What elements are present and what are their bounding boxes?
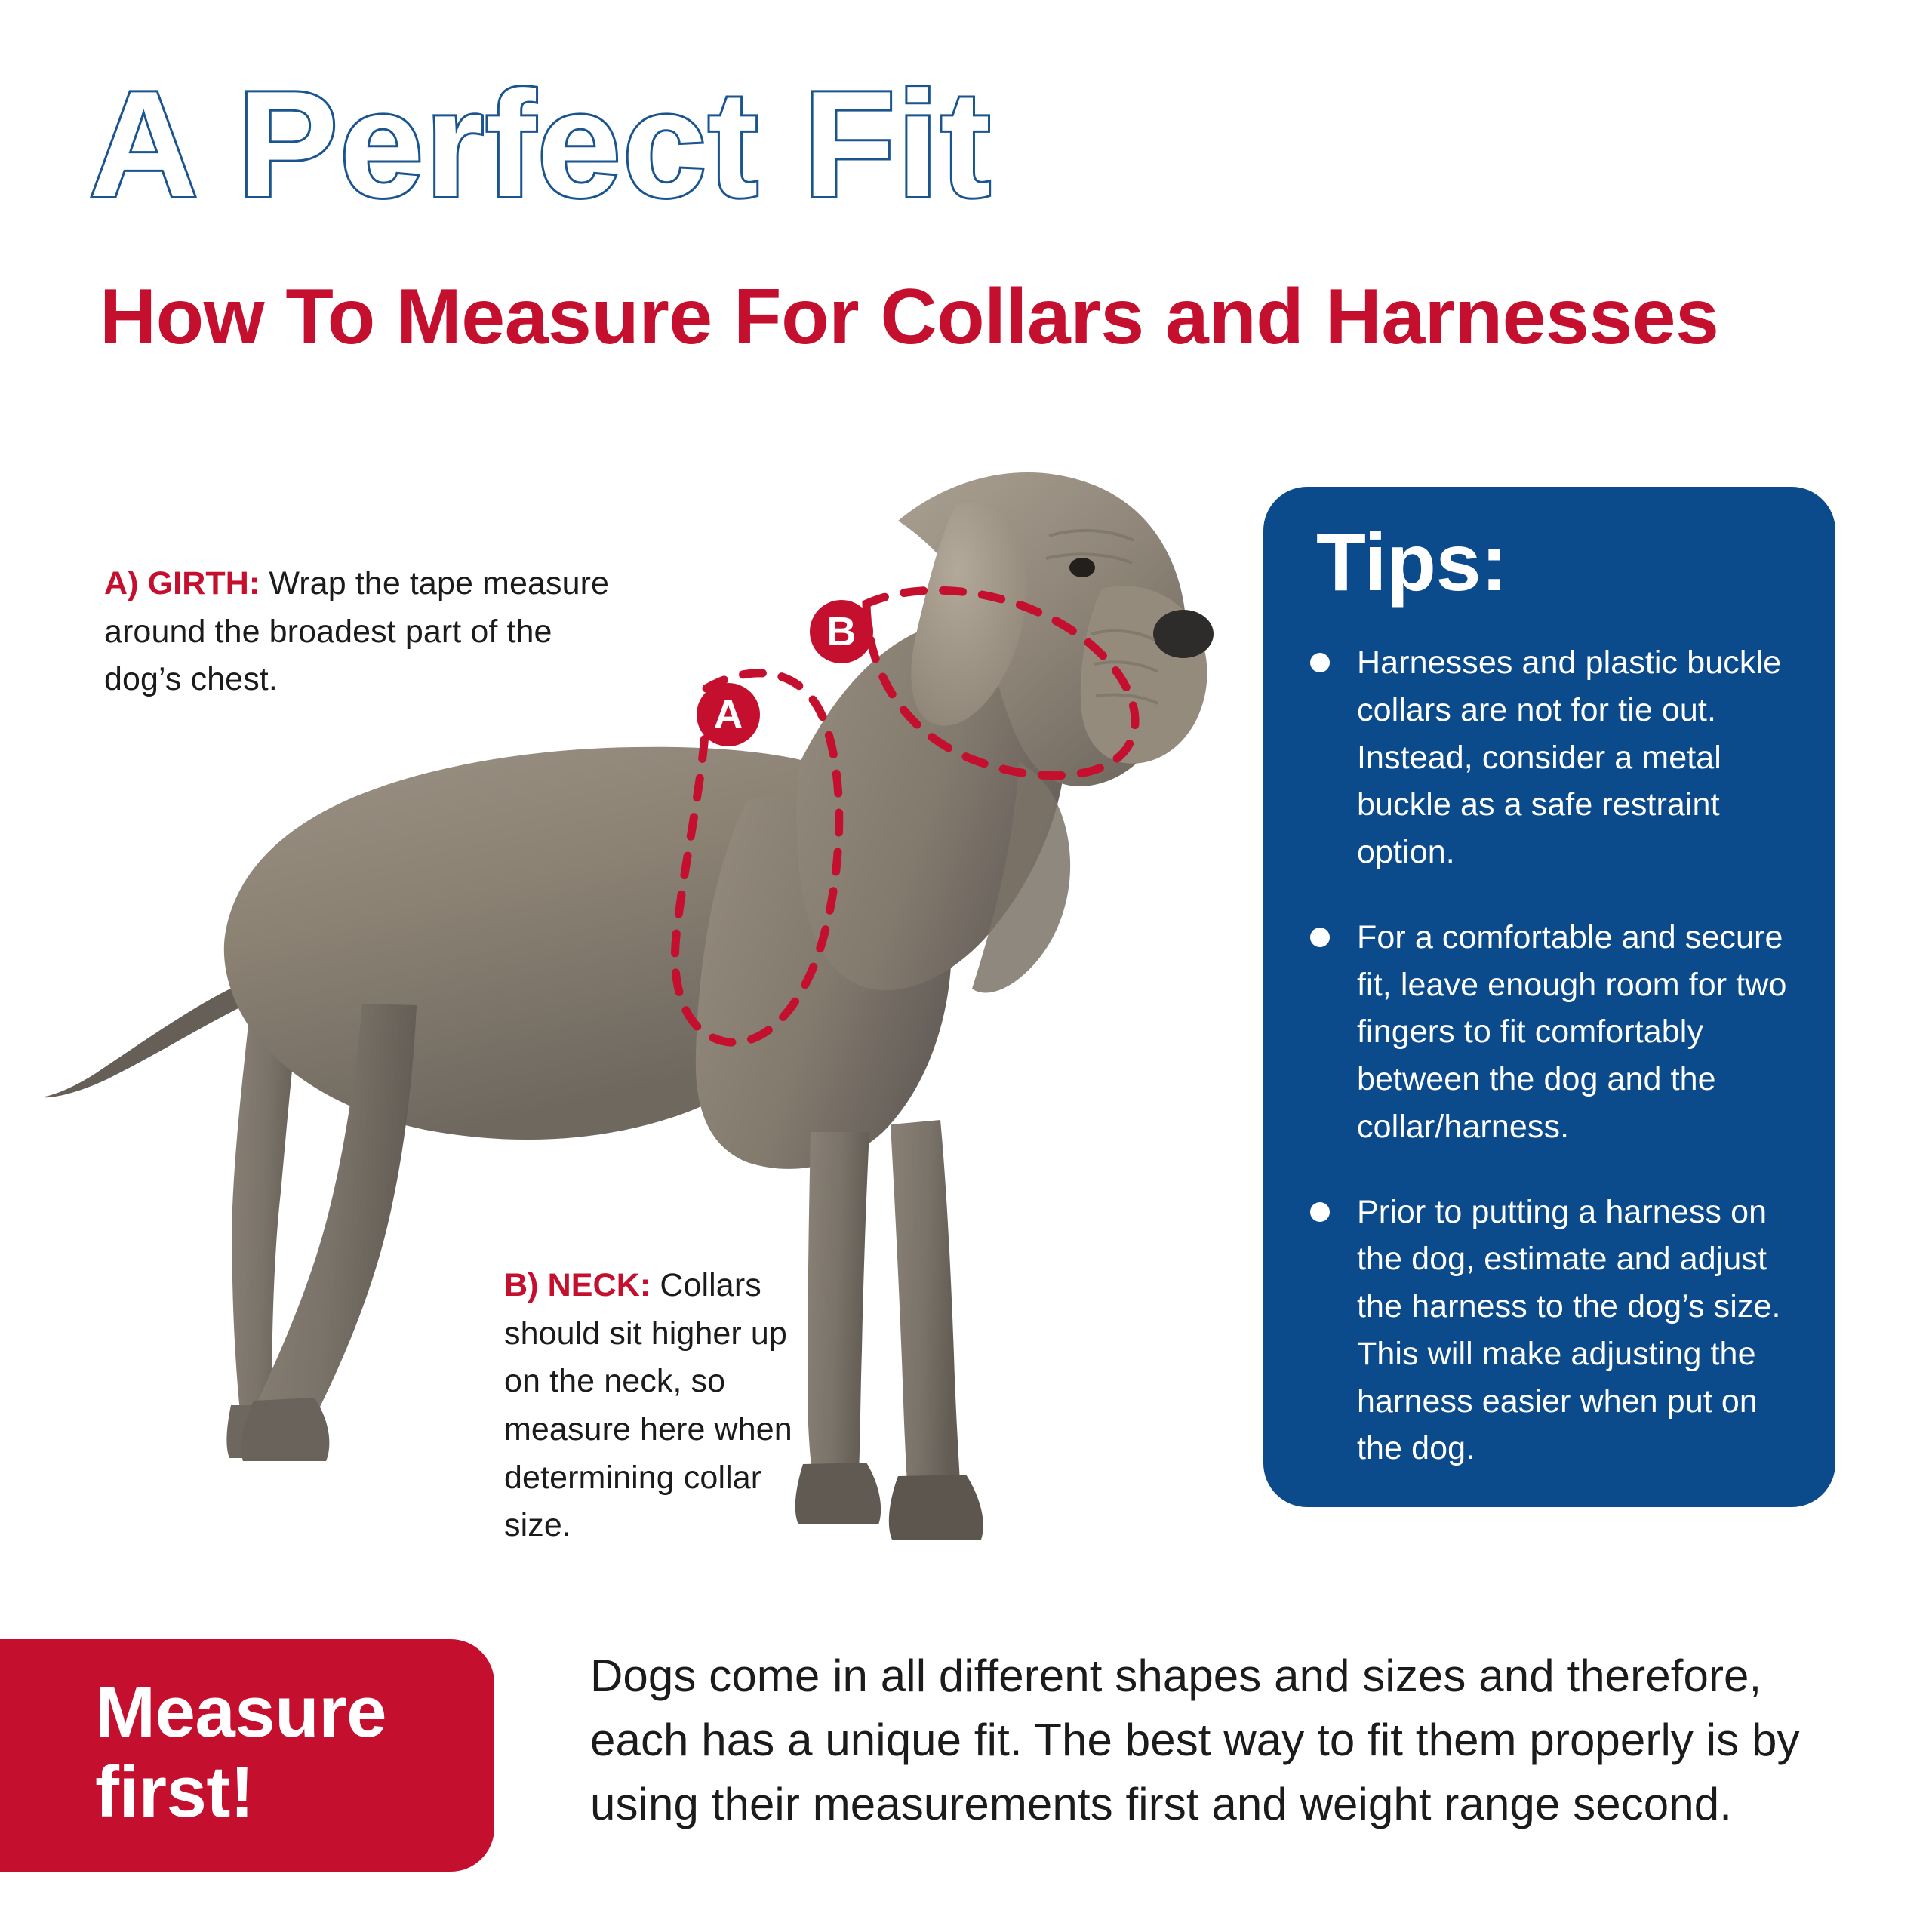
footer-paragraph: Dogs come in all different shapes and si… <box>590 1644 1843 1837</box>
bullet-icon <box>1310 653 1330 672</box>
callout-neck-lead: B) NECK: <box>504 1267 651 1303</box>
callout-girth-lead: A) GIRTH: <box>104 565 260 601</box>
dog-front-paw-near <box>889 1475 983 1540</box>
marker-neck-b: B <box>810 600 873 663</box>
callout-neck: B) NECK: Collars should sit higher up on… <box>504 1262 829 1550</box>
dog-nose <box>1153 610 1214 658</box>
bullet-icon <box>1310 1202 1330 1222</box>
page-subtitle: How To Measure For Collars and Harnesses <box>100 278 1718 356</box>
tip-item: Prior to putting a harness on the dog, e… <box>1306 1189 1796 1473</box>
tip-text: Harnesses and plastic buckle collars are… <box>1357 639 1796 876</box>
callout-girth: A) GIRTH: Wrap the tape measure around t… <box>104 560 632 704</box>
tip-text: For a comfortable and secure fit, leave … <box>1357 914 1796 1151</box>
dog-front-leg-near <box>891 1120 960 1482</box>
measure-first-banner: Measure first! <box>0 1639 494 1872</box>
dog-hind-paw-near <box>241 1398 330 1461</box>
tip-item: Harnesses and plastic buckle collars are… <box>1306 639 1796 876</box>
callout-neck-body: Collars should sit higher up on the neck… <box>504 1267 792 1543</box>
measure-banner-line1: Measure <box>95 1672 494 1752</box>
page-title: A Perfect Fit <box>89 69 992 220</box>
tip-item: For a comfortable and secure fit, leave … <box>1306 914 1796 1151</box>
measure-banner-line2: first! <box>95 1752 494 1832</box>
tips-heading: Tips: <box>1316 521 1796 603</box>
marker-girth-a: A <box>697 683 760 746</box>
dog-eye <box>1069 558 1095 577</box>
tip-text: Prior to putting a harness on the dog, e… <box>1357 1189 1796 1473</box>
dog-tail <box>45 983 248 1097</box>
bullet-icon <box>1310 928 1330 947</box>
tips-panel: Tips: Harnesses and plastic buckle colla… <box>1263 487 1835 1507</box>
